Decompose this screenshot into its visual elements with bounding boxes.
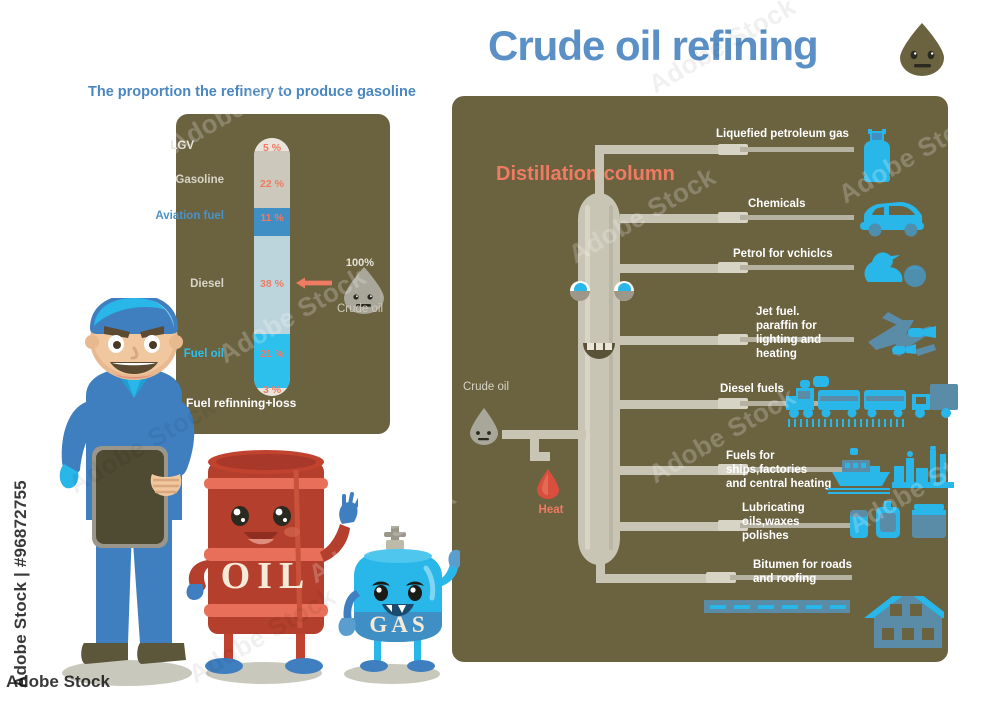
crude-oil-caption: Crude oil xyxy=(324,303,396,315)
bar-value-aviation: 11 % xyxy=(254,213,290,224)
chart-label-lgv: LGV xyxy=(130,140,194,152)
pipe-line-petrol xyxy=(740,265,854,270)
gas-tank-character: GAS xyxy=(336,524,460,676)
column-eye-left xyxy=(570,281,590,301)
heat-flame-drop-icon xyxy=(535,468,561,500)
pipe-bottom-bitumen xyxy=(596,574,714,583)
bar-value-refining-loss: 3 % xyxy=(254,385,290,396)
oil-barrel-label: OIL xyxy=(221,555,312,597)
output-label-lubricating-oils: Lubricating oils,waxes polishes xyxy=(742,501,805,543)
column-highlight-right xyxy=(609,205,613,550)
output-label-fuels-for-ships: Fuels for ships,factories and central he… xyxy=(726,449,831,491)
chart-label-gasoline: Gasoline xyxy=(130,174,224,186)
heat-label: Heat xyxy=(530,504,572,516)
bar-value-gasoline: 22 % xyxy=(254,179,290,190)
pipe-out-jetfuel xyxy=(620,336,728,345)
pipe-crude-feed xyxy=(502,430,586,439)
output-label-diesel-fuels: Diesel fuels xyxy=(720,382,784,396)
chart-title: The proportion the refinery to produce g… xyxy=(88,84,416,100)
bar-value-fuel-oil: 21 % xyxy=(254,349,290,360)
ship-factory-icon xyxy=(828,446,960,498)
page-title: Crude oil refining xyxy=(488,22,818,70)
gas-cylinder-icon xyxy=(858,128,896,186)
chart-label-aviation-fuel: Aviation fuel xyxy=(118,210,224,222)
pipe-line-lpg xyxy=(740,147,854,152)
output-label-chemicals: Chemicals xyxy=(748,197,806,211)
bar-value-diesel: 38 % xyxy=(254,279,290,290)
gas-tank-label: GAS xyxy=(369,612,428,637)
pipe-out-lubricating xyxy=(620,522,728,531)
infographic-canvas: Crude oil refining The proportion the re… xyxy=(0,0,1000,708)
output-label-bitumen: Bitumen for roads and roofing xyxy=(753,558,852,586)
pipe-out-petrol xyxy=(620,264,728,273)
pipe-top-lpg xyxy=(595,145,727,154)
output-label-jet-fuel: Jet fuel. paraffin for lighting and heat… xyxy=(756,305,821,361)
bar-value-lgv: 5 % xyxy=(254,143,290,154)
crude-oil-percent: 100% xyxy=(336,257,384,269)
train-truck-icon xyxy=(780,374,960,430)
bar-segment-fuel-oil xyxy=(254,334,290,388)
watermark-side: Adobe Stock | #96872755 xyxy=(11,438,31,688)
crude-oil-drop-icon xyxy=(466,406,502,448)
pipe-heat-elbow xyxy=(530,452,550,461)
left-arrow-icon xyxy=(296,277,332,289)
pipe-out-diesel xyxy=(620,400,728,409)
distillation-column-title: Distillation column xyxy=(496,163,675,186)
output-label-petrol-for-vehicles: Petrol for vchiclcs xyxy=(733,247,833,261)
pipe-line-chemicals xyxy=(740,215,854,220)
car-icon xyxy=(856,196,928,240)
rubber-duck-icon xyxy=(858,248,930,290)
oil-barrel-character: OIL xyxy=(178,440,358,678)
pipe-bottom-riser xyxy=(596,556,605,574)
chart-label-diesel: Diesel xyxy=(150,278,224,290)
airplane-icon xyxy=(848,304,944,366)
column-highlight-left xyxy=(585,205,590,550)
pipe-out-chemicals xyxy=(620,214,728,223)
column-eye-right xyxy=(614,281,634,301)
pipe-out-ships xyxy=(620,466,728,475)
oil-cans-icon xyxy=(846,500,950,542)
output-label-liquefied-petroleum-gas: Liquefied petroleum gas xyxy=(716,127,849,141)
house-road-icon xyxy=(704,596,944,654)
oil-drop-face-icon xyxy=(898,22,946,76)
crude-feed-label: Crude oil xyxy=(463,381,509,393)
